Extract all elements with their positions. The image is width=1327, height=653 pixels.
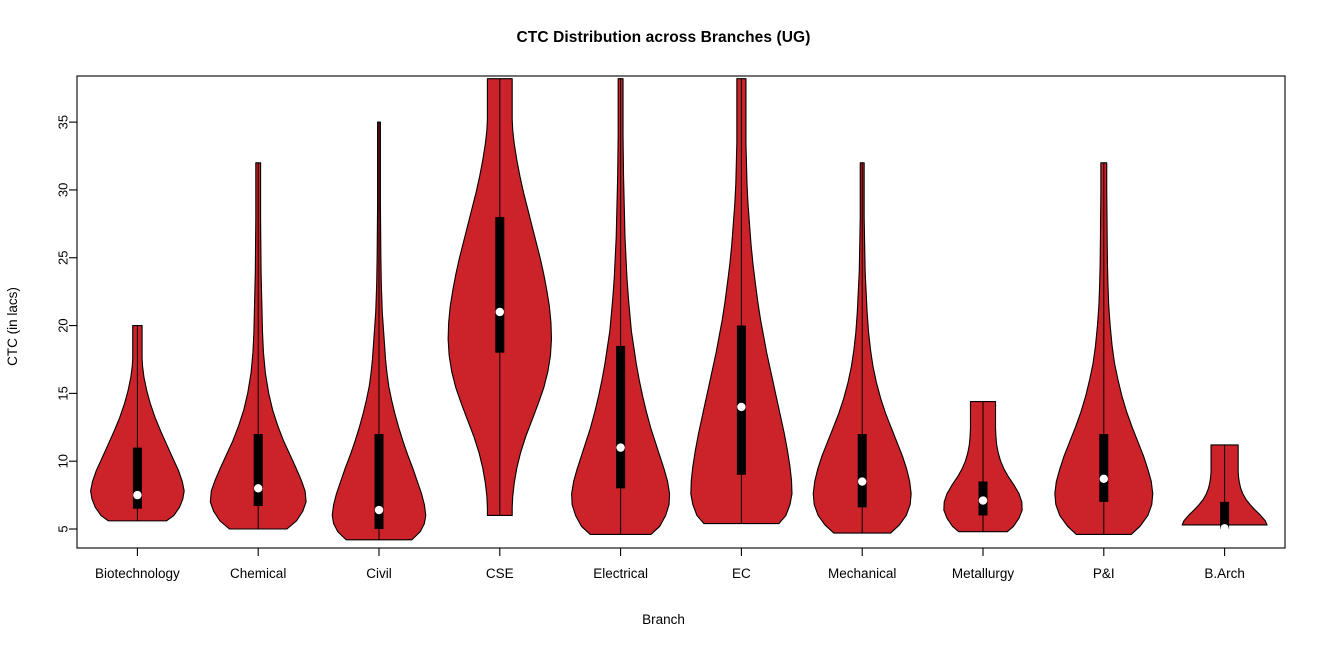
violin-group [1182, 445, 1267, 533]
x-tick-label: Biotechnology [95, 566, 180, 581]
violin-group [944, 402, 1022, 532]
iqr-box [495, 217, 504, 353]
violin-group [572, 79, 670, 535]
y-tick-label: 5 [55, 525, 70, 532]
iqr-box [737, 326, 746, 475]
violin-group [210, 163, 306, 529]
y-tick-label: 35 [55, 115, 70, 129]
violin-group [448, 79, 551, 516]
y-tick-label: 15 [55, 386, 70, 400]
median-marker [496, 308, 504, 316]
median-marker [1100, 475, 1108, 483]
median-marker [1220, 524, 1228, 532]
median-marker [375, 506, 383, 514]
iqr-box [616, 346, 625, 488]
median-marker [979, 496, 987, 504]
x-tick-label: Electrical [593, 566, 648, 581]
violin-group [332, 122, 426, 540]
median-marker [858, 477, 866, 485]
iqr-box [858, 434, 867, 507]
y-tick-label: 20 [55, 318, 70, 332]
plot-area: 5101520253035BiotechnologyChemicalCivilC… [0, 0, 1327, 653]
x-tick-label: P&I [1093, 566, 1115, 581]
x-tick-label: Chemical [230, 566, 286, 581]
x-tick-label: Civil [366, 566, 392, 581]
iqr-box [133, 448, 142, 509]
iqr-box [375, 434, 384, 529]
y-tick-label: 25 [55, 251, 70, 265]
violin-chart-root: CTC Distribution across Branches (UG) CT… [0, 0, 1327, 653]
x-tick-label: Mechanical [828, 566, 896, 581]
violin-group [813, 163, 911, 533]
y-tick-label: 10 [55, 454, 70, 468]
median-marker [737, 403, 745, 411]
violin-group [91, 326, 185, 521]
violin-group [691, 79, 792, 524]
violin-group [1055, 163, 1153, 535]
iqr-box [254, 434, 263, 506]
x-tick-label: B.Arch [1204, 566, 1245, 581]
x-tick-label: EC [732, 566, 751, 581]
median-marker [616, 443, 624, 451]
x-tick-label: Metallurgy [952, 566, 1015, 581]
iqr-box [1099, 434, 1108, 502]
median-marker [133, 491, 141, 499]
x-tick-label: CSE [486, 566, 514, 581]
median-marker [254, 484, 262, 492]
y-tick-label: 30 [55, 183, 70, 197]
